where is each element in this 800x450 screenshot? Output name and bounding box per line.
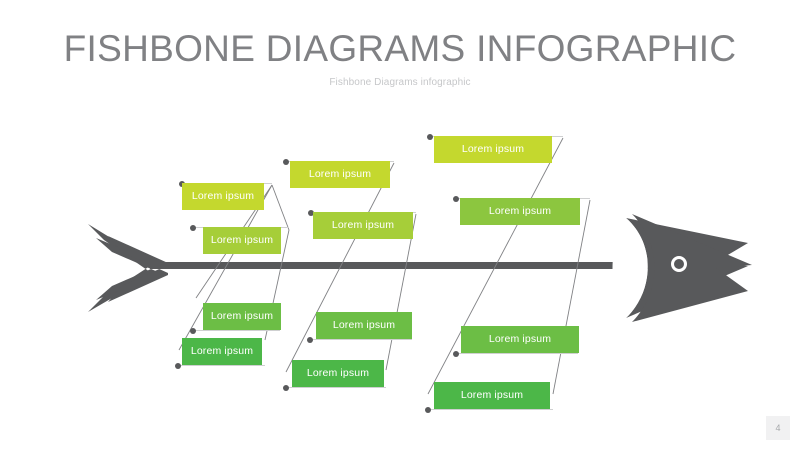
node-dot: [283, 159, 289, 165]
fishbone-label-bottom-6[interactable]: Lorem ipsum: [434, 382, 550, 409]
fishbone-label-bottom-1[interactable]: Lorem ipsum: [203, 303, 281, 330]
node-stem: [286, 387, 386, 388]
node-stem: [193, 330, 280, 331]
fishbone-label-top-4[interactable]: Lorem ipsum: [313, 212, 413, 239]
fishbone-label-top-3[interactable]: Lorem ipsum: [290, 161, 390, 188]
node-stem: [310, 339, 412, 340]
fishbone-label-bottom-4[interactable]: Lorem ipsum: [292, 360, 384, 387]
node-stem: [456, 353, 578, 354]
node-dot: [425, 407, 431, 413]
page-number: 4: [766, 416, 790, 440]
node-stem: [428, 409, 553, 410]
fishbone-label-bottom-5[interactable]: Lorem ipsum: [461, 326, 579, 353]
fishbone-label-bottom-2[interactable]: Lorem ipsum: [182, 338, 262, 365]
fishbone-label-top-2[interactable]: Lorem ipsum: [203, 227, 281, 254]
node-dot: [175, 363, 181, 369]
fishbone-label-bottom-3[interactable]: Lorem ipsum: [316, 312, 412, 339]
fishbone-label-top-5[interactable]: Lorem ipsum: [434, 136, 552, 163]
node-dot: [190, 328, 196, 334]
node-stem: [178, 365, 265, 366]
fishbone-label-top-6[interactable]: Lorem ipsum: [460, 198, 580, 225]
node-dot: [283, 385, 289, 391]
node-dot: [307, 337, 313, 343]
node-dot: [190, 225, 196, 231]
slide-canvas: FISHBONE DIAGRAMS INFOGRAPHIC Fishbone D…: [0, 0, 800, 450]
node-dot: [427, 134, 433, 140]
node-dot: [453, 196, 459, 202]
node-dot: [453, 351, 459, 357]
fish-head-icon: [613, 214, 753, 322]
fishbone-label-top-1[interactable]: Lorem ipsum: [182, 183, 264, 210]
